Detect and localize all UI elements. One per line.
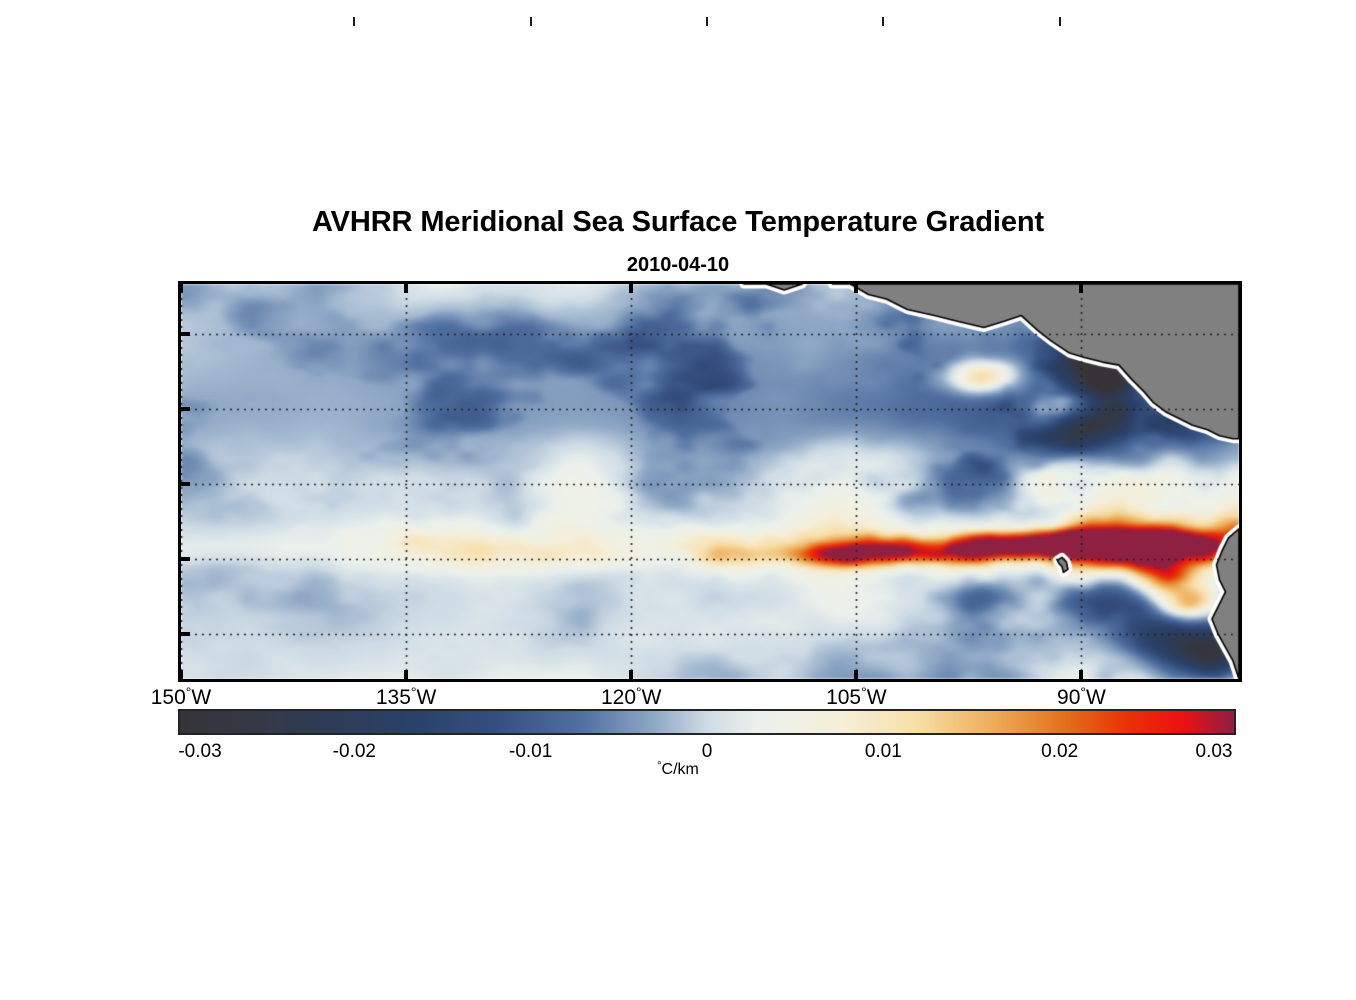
x-tick-mark-top: [629, 284, 633, 293]
x-tick-mark-top: [404, 284, 408, 293]
colorbar-gradient[interactable]: [178, 709, 1236, 735]
colorbar-unit-label: °C/km: [0, 760, 1356, 779]
x-tick-mark-bottom: [629, 670, 633, 679]
x-tick-mark-bottom: [1079, 670, 1083, 679]
x-tick-label: 105°W: [826, 684, 886, 710]
sst-gradient-heatmap[interactable]: [181, 284, 1239, 679]
y-tick-mark: [181, 332, 190, 336]
y-tick-mark: [181, 407, 190, 411]
x-tick-mark-bottom: [404, 670, 408, 679]
page-title: AVHRR Meridional Sea Surface Temperature…: [0, 206, 1356, 239]
y-tick-mark: [181, 482, 190, 486]
x-tick-mark-bottom: [854, 670, 858, 679]
page-subtitle: 2010-04-10: [0, 254, 1356, 277]
x-tick-label: 135°W: [376, 684, 436, 710]
map-axes[interactable]: [178, 281, 1242, 682]
colorbar-tick-mark: [353, 17, 355, 26]
colorbar-tick-mark: [882, 17, 884, 26]
y-tick-mark: [181, 557, 190, 561]
x-tick-mark-top: [1079, 284, 1083, 293]
colorbar-tick-mark: [706, 17, 708, 26]
x-tick-mark-bottom: [179, 670, 183, 679]
y-tick-mark: [181, 632, 190, 636]
x-tick-label: 150°W: [151, 684, 211, 710]
x-tick-label: 90°W: [1057, 684, 1106, 710]
colorbar[interactable]: [178, 709, 1236, 735]
colorbar-tick-mark: [530, 17, 532, 26]
x-tick-mark-top: [179, 284, 183, 293]
x-tick-mark-top: [854, 284, 858, 293]
figure-canvas: AVHRR Meridional Sea Surface Temperature…: [0, 0, 1356, 1000]
x-tick-label: 120°W: [601, 684, 661, 710]
colorbar-tick-mark: [1059, 17, 1061, 26]
